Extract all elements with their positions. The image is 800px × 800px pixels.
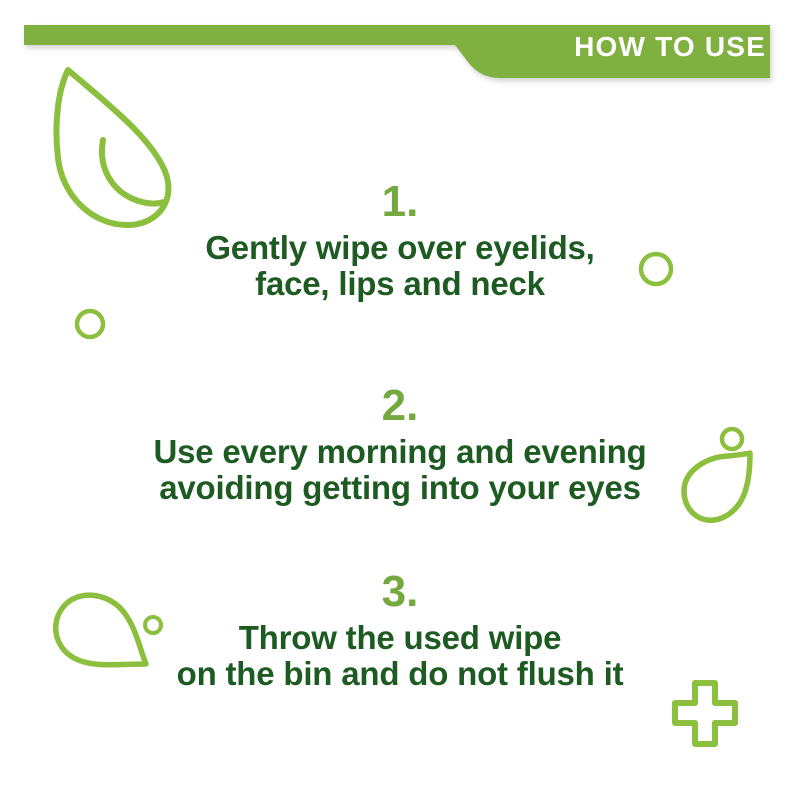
banner-title: HOW TO USE [574,30,766,64]
banner-shape [24,25,770,78]
step-1-text: Gently wipe over eyelids, face, lips and… [0,230,800,302]
step-1-number: 1. [0,178,800,226]
step-2-text: Use every morning and evening avoiding g… [0,434,800,506]
circle-left-icon [72,306,108,342]
step-2-number: 2. [0,382,800,430]
how-to-use-infographic: HOW TO USE [0,0,800,800]
step-2: 2. Use every morning and evening avoidin… [0,382,800,506]
step-3-number: 3. [0,568,800,616]
step-1: 1. Gently wipe over eyelids, face, lips … [0,178,800,302]
step-3-text: Throw the used wipe on the bin and do no… [0,620,800,692]
header-banner: HOW TO USE [0,0,800,90]
step-3: 3. Throw the used wipe on the bin and do… [0,568,800,692]
